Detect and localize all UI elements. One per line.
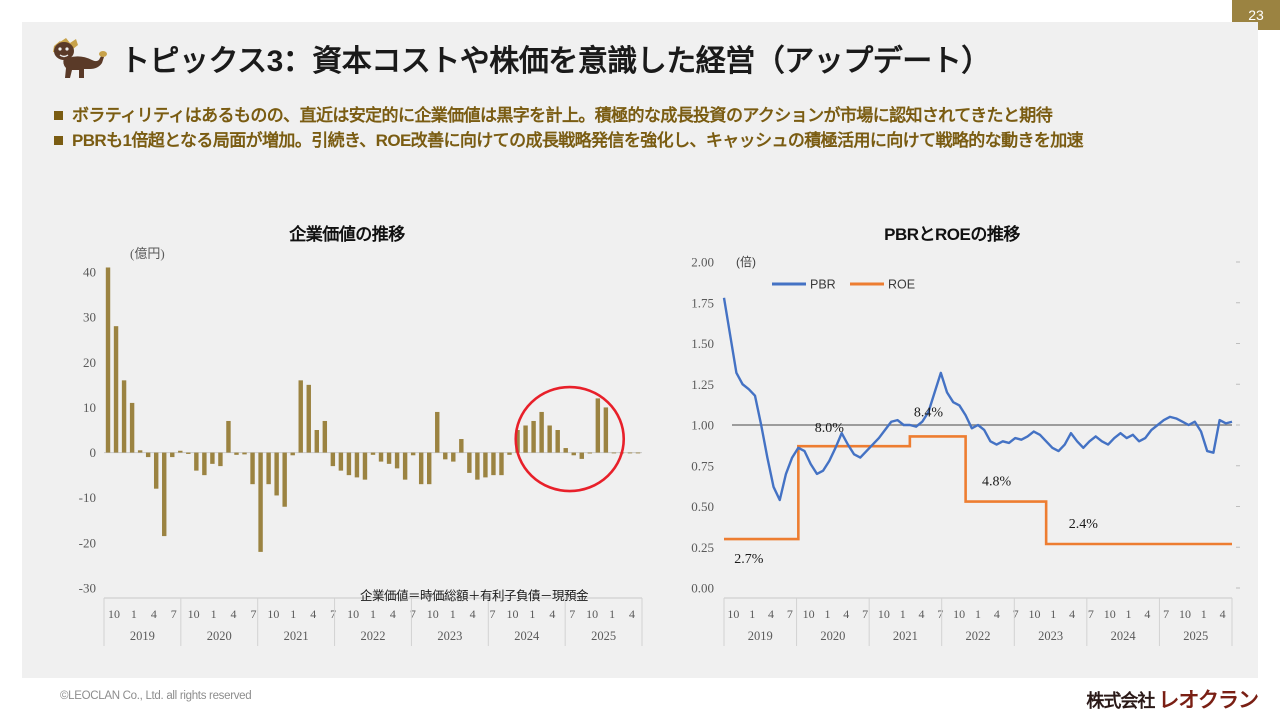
bullet-square-icon: [54, 136, 63, 145]
y-axis-tick: 1.00: [691, 418, 714, 433]
x-axis-month-tick: 10: [953, 607, 965, 621]
pbr-line-series: [724, 298, 1232, 500]
bar: [202, 453, 206, 476]
bar: [531, 421, 535, 453]
x-axis-year-tick: 2025: [1183, 629, 1208, 643]
bar: [299, 380, 303, 452]
company-prefix: 株式会社: [1086, 691, 1154, 711]
x-axis-year-tick: 2022: [966, 629, 991, 643]
x-axis-month-tick: 7: [1013, 607, 1019, 621]
x-axis-month-tick: 1: [211, 607, 217, 621]
x-axis-month-tick: 1: [131, 607, 137, 621]
x-axis-month-tick: 4: [1144, 607, 1150, 621]
y-axis-tick: 0.00: [691, 581, 714, 596]
bar: [282, 453, 286, 507]
x-axis-month-tick: 1: [450, 607, 456, 621]
y-axis-tick: 1.75: [691, 295, 714, 310]
bar: [467, 453, 471, 473]
x-axis-month-tick: 1: [749, 607, 755, 621]
x-axis-month-tick: 10: [188, 607, 200, 621]
x-axis-month-tick: 7: [569, 607, 575, 621]
bar: [130, 403, 134, 453]
data-label-annotation: 8.4%: [914, 405, 944, 420]
bar: [636, 453, 640, 454]
x-axis-month-tick: 10: [1104, 607, 1116, 621]
y-axis-tick: 0: [90, 445, 97, 460]
x-axis-month-tick: 7: [1163, 607, 1169, 621]
bar: [580, 453, 584, 459]
bar: [339, 453, 343, 471]
chart-unit-label: (倍): [736, 254, 756, 269]
data-label-annotation: 2.4%: [1069, 517, 1099, 532]
x-axis-month-tick: 1: [1126, 607, 1132, 621]
bar: [106, 267, 110, 452]
x-axis-year-tick: 2025: [591, 629, 616, 643]
bar: [323, 421, 327, 453]
lion-logo-icon: [40, 36, 112, 84]
bar: [218, 453, 222, 467]
copyright-text: ©LEOCLAN Co., Ltd. all rights reserved: [60, 690, 251, 702]
bullet-square-icon: [54, 111, 63, 120]
slide-root: 23 トピックス3：資本コスト: [0, 0, 1280, 720]
x-axis-month-tick: 4: [151, 607, 157, 621]
y-axis-tick: 10: [83, 400, 96, 415]
bar: [138, 450, 142, 452]
data-label-annotation: 4.8%: [982, 475, 1012, 490]
bar: [242, 453, 246, 455]
bar: [612, 453, 616, 454]
x-axis-month-tick: 7: [490, 607, 496, 621]
bar: [170, 453, 174, 458]
bar: [210, 453, 214, 464]
bar: [355, 453, 359, 478]
x-axis-month-tick: 4: [629, 607, 635, 621]
bar: [491, 453, 495, 476]
x-axis-month-tick: 4: [768, 607, 774, 621]
x-axis-month-tick: 10: [803, 607, 815, 621]
bar: [363, 453, 367, 480]
x-axis-year-tick: 2019: [748, 629, 773, 643]
x-axis-month-tick: 10: [108, 607, 120, 621]
y-axis-tick: 0.75: [691, 458, 714, 473]
x-axis-year-tick: 2021: [284, 629, 309, 643]
y-axis-tick: -10: [79, 490, 96, 505]
bar: [162, 453, 166, 537]
bar: [234, 453, 238, 455]
bar: [588, 453, 592, 454]
x-axis-year-tick: 2023: [437, 629, 462, 643]
x-axis-month-tick: 7: [787, 607, 793, 621]
company-logotype: 株式会社 レオクラン: [1086, 684, 1258, 714]
bar: [290, 453, 294, 456]
x-axis-month-tick: 10: [1028, 607, 1040, 621]
bar: [146, 453, 150, 458]
bullet-list: ボラティリティはあるものの、直近は安定的に企業価値は黒字を計上。積極的な成長投資…: [54, 104, 1250, 155]
x-axis-month-tick: 1: [609, 607, 615, 621]
bar: [604, 407, 608, 452]
x-axis-month-tick: 4: [310, 607, 316, 621]
bar: [539, 412, 543, 453]
bullet-item: ボラティリティはあるものの、直近は安定的に企業価値は黒字を計上。積極的な成長投資…: [54, 104, 1250, 127]
y-axis-tick: 1.25: [691, 377, 714, 392]
x-axis-year-tick: 2024: [514, 629, 540, 643]
bar: [114, 326, 118, 452]
legend-label-roe: ROE: [888, 278, 915, 292]
page-title: トピックス3：資本コストや株価を意識した経営（アップデート）: [120, 36, 991, 80]
x-axis-month-tick: 1: [1050, 607, 1056, 621]
bar: [315, 430, 319, 453]
x-axis-month-tick: 10: [267, 607, 279, 621]
bar: [411, 453, 415, 456]
bar: [555, 430, 559, 453]
y-axis-tick: 2.00: [691, 255, 714, 270]
bar: [547, 425, 551, 452]
x-axis-month-tick: 4: [843, 607, 849, 621]
y-axis-tick: -20: [79, 535, 96, 550]
x-axis-month-tick: 1: [290, 607, 296, 621]
bar: [307, 385, 311, 453]
legend-label-pbr: PBR: [810, 278, 836, 292]
slide-footer: ©LEOCLAN Co., Ltd. all rights reserved 株…: [0, 678, 1280, 720]
bar: [122, 380, 126, 452]
x-axis-month-tick: 4: [1220, 607, 1226, 621]
slide-header: トピックス3：資本コストや株価を意識した経営（アップデート）: [22, 22, 1258, 94]
bar: [186, 453, 190, 454]
bar: [274, 453, 278, 496]
x-axis-month-tick: 4: [994, 607, 1000, 621]
bar: [194, 453, 198, 471]
x-axis-year-tick: 2023: [1038, 629, 1063, 643]
x-axis-month-tick: 7: [862, 607, 868, 621]
bar: [459, 439, 463, 453]
bar: [596, 398, 600, 452]
bar: [379, 453, 383, 462]
data-label-annotation: 2.7%: [734, 552, 764, 567]
x-axis-year-tick: 2022: [361, 629, 386, 643]
y-axis-tick: 30: [83, 310, 96, 325]
bar: [331, 453, 335, 467]
y-axis-tick: 0.50: [691, 499, 714, 514]
x-axis-month-tick: 10: [727, 607, 739, 621]
x-axis-month-tick: 10: [506, 607, 518, 621]
bar: [435, 412, 439, 453]
bullet-text: PBRも1倍超となる局面が増加。引続き、ROE改善に向けての成長戦略発信を強化し…: [72, 129, 1250, 152]
x-axis-month-tick: 10: [878, 607, 890, 621]
x-axis-month-tick: 10: [586, 607, 598, 621]
x-axis-month-tick: 4: [390, 607, 396, 621]
slide-body-panel: トピックス3：資本コストや株価を意識した経営（アップデート） ボラティリティはあ…: [22, 22, 1258, 678]
bullet-item: PBRも1倍超となる局面が増加。引続き、ROE改善に向けての成長戦略発信を強化し…: [54, 129, 1250, 152]
x-axis-month-tick: 7: [171, 607, 177, 621]
chart-footnote: 企業価値＝時価総額＋有利子負債－現預金: [360, 585, 588, 604]
x-axis-month-tick: 1: [370, 607, 376, 621]
x-axis-year-tick: 2019: [130, 629, 155, 643]
bar: [427, 453, 431, 485]
x-axis-year-tick: 2024: [1111, 629, 1137, 643]
x-axis-month-tick: 7: [1088, 607, 1094, 621]
enterprise-value-chart: 企業価値の推移 (億円)403020100-10-20-301014710147…: [42, 220, 652, 680]
chart-unit-label: (億円): [130, 246, 165, 261]
bar: [154, 453, 158, 489]
y-axis-tick: 1.50: [691, 336, 714, 351]
bar: [451, 453, 455, 462]
x-axis-month-tick: 1: [824, 607, 830, 621]
bar: [258, 453, 262, 552]
y-axis-tick: 40: [83, 265, 96, 280]
x-axis-month-tick: 10: [1179, 607, 1191, 621]
x-axis-month-tick: 7: [937, 607, 943, 621]
bar: [572, 453, 576, 456]
bar: [499, 453, 503, 476]
y-axis-tick: 20: [83, 355, 96, 370]
bar: [371, 453, 375, 455]
y-axis-tick: -30: [79, 581, 96, 596]
bar: [523, 425, 527, 452]
x-axis-month-tick: 1: [975, 607, 981, 621]
x-axis-month-tick: 1: [1201, 607, 1207, 621]
roe-line-series: [724, 436, 1232, 544]
bar: [564, 448, 568, 453]
data-label-annotation: 8.0%: [815, 421, 845, 436]
bullet-text: ボラティリティはあるものの、直近は安定的に企業価値は黒字を計上。積極的な成長投資…: [72, 104, 1250, 127]
bar: [403, 453, 407, 480]
bar: [507, 453, 511, 455]
x-axis-month-tick: 7: [410, 607, 416, 621]
company-brand: レオクラン: [1158, 689, 1258, 712]
pbr-roe-plot: (倍)2.001.751.501.251.000.750.500.250.002…: [652, 220, 1252, 660]
x-axis-year-tick: 2021: [893, 629, 918, 643]
bar: [226, 421, 230, 453]
x-axis-month-tick: 4: [919, 607, 925, 621]
x-axis-month-tick: 4: [231, 607, 237, 621]
bar-series: [106, 267, 640, 551]
bar: [628, 453, 632, 454]
x-axis-month-tick: 1: [900, 607, 906, 621]
x-axis-month-tick: 7: [330, 607, 336, 621]
bar: [387, 453, 391, 464]
x-axis-month-tick: 4: [470, 607, 476, 621]
bar: [178, 451, 182, 453]
bar: [395, 453, 399, 469]
bar: [266, 453, 270, 485]
bar: [483, 453, 487, 478]
bar: [347, 453, 351, 476]
x-axis-month-tick: 10: [427, 607, 439, 621]
y-axis-tick: 0.25: [691, 540, 714, 555]
x-axis-month-tick: 4: [1069, 607, 1075, 621]
bar: [475, 453, 479, 480]
bar: [419, 453, 423, 485]
x-axis-month-tick: 4: [549, 607, 555, 621]
bar: [250, 453, 254, 485]
x-axis-month-tick: 7: [250, 607, 256, 621]
x-axis-year-tick: 2020: [820, 629, 845, 643]
x-axis-month-tick: 1: [529, 607, 535, 621]
x-axis-month-tick: 10: [347, 607, 359, 621]
x-axis-year-tick: 2020: [207, 629, 232, 643]
bar: [443, 453, 447, 460]
pbr-roe-chart: PBRとROEの推移 (倍)2.001.751.501.251.000.750.…: [652, 220, 1252, 680]
